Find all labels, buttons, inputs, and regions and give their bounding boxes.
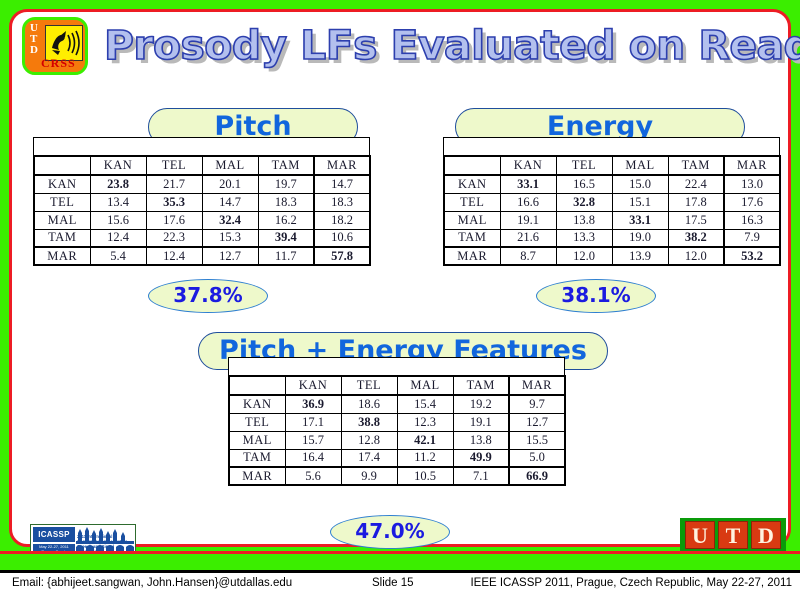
table-cell: 9.7 [509,395,565,413]
column-header-tel: TEL [556,156,612,175]
accuracy-badge-energy: 38.1% [536,279,656,313]
column-header-tel: TEL [146,156,202,175]
table-cell: 13.9 [612,247,668,265]
table-cell: 16.6 [500,193,556,211]
row-label-tel: TEL [444,193,500,211]
column-header-mar: MAR [509,376,565,395]
table-cell: 5.6 [285,467,341,485]
table-cell: 21.7 [146,175,202,193]
table-cell: 17.6 [724,193,780,211]
table-cell: 8.7 [500,247,556,265]
table-cell: 38.8 [341,413,397,431]
table-cell: 11.7 [258,247,314,265]
table-cell: 5.4 [90,247,146,265]
confusion-matrix-pitch: KANTELMALTAMMARKAN23.821.720.119.714.7TE… [33,155,371,266]
table-cell: 5.0 [509,449,565,467]
table-cell: 12.7 [202,247,258,265]
table-header-row: KANTELMALTAMMAR [229,376,565,395]
column-header-tam: TAM [453,376,509,395]
footer-bar: Email: {abhijeet.sangwan, John.Hansen}@u… [0,573,800,598]
table-cell: 12.3 [397,413,453,431]
table-cell: 14.7 [202,193,258,211]
table-cell: 42.1 [397,431,453,449]
table-cell: 18.3 [258,193,314,211]
row-label-mar: MAR [34,247,90,265]
table-cell: 36.9 [285,395,341,413]
table-cell: 19.0 [612,229,668,247]
table-row: KAN36.918.615.419.29.7 [229,395,565,413]
table-row: TEL16.632.815.117.817.6 [444,193,780,211]
table-cell: 22.4 [668,175,724,193]
row-label-tam: TAM [229,449,285,467]
table-cell: 13.8 [556,211,612,229]
page-title: Prosody LFs Evaluated on Read Speech [104,17,777,75]
utd-logo-letter-u: U [685,521,715,549]
table-cell: 12.4 [146,247,202,265]
table-top-strip-energy [443,137,780,156]
table-cell: 9.9 [341,467,397,485]
row-label-mar: MAR [444,247,500,265]
table-cell: 13.4 [90,193,146,211]
table-corner-cell [444,156,500,175]
row-label-kan: KAN [34,175,90,193]
row-label-mal: MAL [229,431,285,449]
row-label-tam: TAM [34,229,90,247]
green-divider-band [0,551,800,573]
column-header-kan: KAN [90,156,146,175]
footer-email: Email: {abhijeet.sangwan, John.Hansen}@u… [12,577,292,589]
column-header-mar: MAR [314,156,370,175]
confusion-matrix-energy: KANTELMALTAMMARKAN33.116.515.022.413.0TE… [443,155,781,266]
table-cell: 19.1 [453,413,509,431]
table-row: MAR5.69.910.57.166.9 [229,467,565,485]
table-cell: 19.2 [453,395,509,413]
crss-logo-utd-text: UTD [30,23,38,56]
icassp-badge-text: ICASSP [33,527,75,542]
table-cell: 17.1 [285,413,341,431]
table-cell: 16.5 [556,175,612,193]
row-label-kan: KAN [444,175,500,193]
row-label-mar: MAR [229,467,285,485]
crss-logo: UTD CRSS [22,17,88,75]
crss-logo-crss-text: CRSS [41,56,76,71]
table-cell: 16.4 [285,449,341,467]
table-cell: 15.6 [90,211,146,229]
table-cell: 15.0 [612,175,668,193]
table-cell: 18.3 [314,193,370,211]
table-cell: 12.0 [668,247,724,265]
utd-logo: U T D [680,518,786,552]
table-cell: 7.9 [724,229,780,247]
accuracy-badge-combined: 47.0% [330,515,450,549]
table-cell: 17.8 [668,193,724,211]
row-label-tam: TAM [444,229,500,247]
column-header-mal: MAL [202,156,258,175]
crss-speaker-waves-icon [46,26,82,60]
table-cell: 20.1 [202,175,258,193]
table-cell: 39.4 [258,229,314,247]
table-cell: 19.1 [500,211,556,229]
table-cell: 57.8 [314,247,370,265]
column-header-tam: TAM [258,156,314,175]
table-cell: 16.2 [258,211,314,229]
row-label-tel: TEL [34,193,90,211]
utd-logo-letter-d: D [751,521,781,549]
table-cell: 38.2 [668,229,724,247]
table-cell: 15.7 [285,431,341,449]
table-cell: 15.3 [202,229,258,247]
table-corner-cell [229,376,285,395]
row-label-mal: MAL [444,211,500,229]
table-cell: 7.1 [453,467,509,485]
table-cell: 10.5 [397,467,453,485]
table-cell: 18.6 [341,395,397,413]
row-label-tel: TEL [229,413,285,431]
table-row: MAL15.712.842.113.815.5 [229,431,565,449]
table-cell: 15.5 [509,431,565,449]
confusion-matrix-combined: KANTELMALTAMMARKAN36.918.615.419.29.7TEL… [228,375,566,486]
table-row: MAL15.617.632.416.218.2 [34,211,370,229]
table-cell: 18.2 [314,211,370,229]
table-cell: 33.1 [612,211,668,229]
table-top-strip-pitch [33,137,370,156]
table-row: MAR8.712.013.912.053.2 [444,247,780,265]
table-cell: 12.0 [556,247,612,265]
table-cell: 12.4 [90,229,146,247]
table-cell: 13.3 [556,229,612,247]
footer-conference: IEEE ICASSP 2011, Prague, Czech Republic… [470,577,792,589]
row-label-mal: MAL [34,211,90,229]
table-cell: 22.3 [146,229,202,247]
table-top-strip-combined [228,357,565,376]
table-row: TAM21.613.319.038.27.9 [444,229,780,247]
utd-logo-letter-t: T [718,521,748,549]
table-header-row: KANTELMALTAMMAR [34,156,370,175]
column-header-tam: TAM [668,156,724,175]
column-header-mal: MAL [612,156,668,175]
table-cell: 66.9 [509,467,565,485]
table-cell: 11.2 [397,449,453,467]
table-row: TAM16.417.411.249.95.0 [229,449,565,467]
table-row: MAL19.113.833.117.516.3 [444,211,780,229]
table-cell: 35.3 [146,193,202,211]
table-cell: 17.6 [146,211,202,229]
row-label-kan: KAN [229,395,285,413]
table-cell: 23.8 [90,175,146,193]
column-header-mar: MAR [724,156,780,175]
table-cell: 14.7 [314,175,370,193]
column-header-tel: TEL [341,376,397,395]
table-corner-cell [34,156,90,175]
footer-slide-number: Slide 15 [372,577,414,589]
column-header-kan: KAN [500,156,556,175]
table-cell: 13.8 [453,431,509,449]
table-cell: 21.6 [500,229,556,247]
table-header-row: KANTELMALTAMMAR [444,156,780,175]
table-row: TAM12.422.315.339.410.6 [34,229,370,247]
table-cell: 32.4 [202,211,258,229]
table-cell: 49.9 [453,449,509,467]
table-row: TEL17.138.812.319.112.7 [229,413,565,431]
table-cell: 32.8 [556,193,612,211]
table-cell: 12.7 [509,413,565,431]
table-cell: 53.2 [724,247,780,265]
table-row: MAR5.412.412.711.757.8 [34,247,370,265]
column-header-kan: KAN [285,376,341,395]
table-cell: 17.4 [341,449,397,467]
table-row: TEL13.435.314.718.318.3 [34,193,370,211]
table-row: KAN33.116.515.022.413.0 [444,175,780,193]
table-cell: 19.7 [258,175,314,193]
table-cell: 10.6 [314,229,370,247]
table-cell: 15.4 [397,395,453,413]
column-header-mal: MAL [397,376,453,395]
table-cell: 17.5 [668,211,724,229]
table-row: KAN23.821.720.119.714.7 [34,175,370,193]
table-cell: 12.8 [341,431,397,449]
table-cell: 16.3 [724,211,780,229]
accuracy-badge-pitch: 37.8% [148,279,268,313]
table-cell: 15.1 [612,193,668,211]
table-cell: 33.1 [500,175,556,193]
table-cell: 13.0 [724,175,780,193]
